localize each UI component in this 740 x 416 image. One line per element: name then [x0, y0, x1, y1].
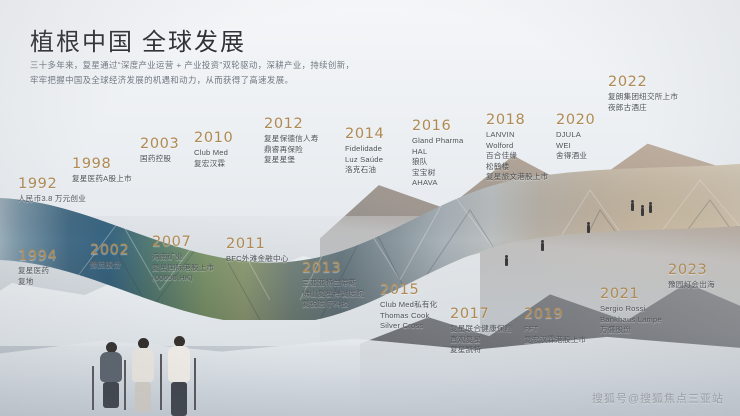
climber-figure [587, 225, 590, 233]
entry-item: 复星星堡 [264, 155, 319, 166]
timeline-entry-1994[interactable]: 1994 复星医药 复地 [18, 248, 57, 287]
timeline-entry-2012[interactable]: 2012 复星保德信人寿 鼎睿再保险 复星星堡 [264, 116, 319, 166]
ski-pole [124, 360, 126, 410]
timeline-entry-2018[interactable]: 2018 LANVIN Wolford 百合佳缘 松鹤楼 复星旅文港股上市 [486, 112, 548, 183]
climber-figure [631, 203, 634, 211]
entry-items: 豫园灯会出海 [668, 280, 715, 291]
skier-figure [168, 336, 190, 416]
year-label: 2019 [524, 306, 586, 322]
entry-item: (00656.HK) [152, 273, 214, 284]
ski-pole [160, 354, 162, 410]
timeline-entry-2015[interactable]: 2015 Club Med私有化 Thomas Cook Silver Cros… [380, 282, 437, 332]
entry-items: FFT 复宏汉霖港股上市 [524, 324, 586, 345]
entry-item: 人民币3.8 万元创业 [18, 194, 86, 205]
entry-item: Bankhaus Lampe [600, 315, 662, 326]
entry-item: 舍得酒业 [556, 151, 595, 162]
year-label: 1994 [18, 248, 57, 264]
entry-item: 国药控股 [140, 154, 179, 165]
entry-item: AHAVA [412, 178, 463, 189]
entry-items: Club Med私有化 Thomas Cook Silver Cross [380, 300, 437, 332]
year-label: 2011 [226, 236, 289, 252]
entry-items: BFC外滩金融中心 [226, 254, 289, 265]
year-label: 2010 [194, 130, 233, 146]
skier-figure [132, 338, 154, 412]
skier-figure [100, 342, 122, 408]
entry-item: 复星保德信人寿 [264, 134, 319, 145]
year-label: 2013 [302, 260, 364, 276]
year-label: 2023 [668, 262, 715, 278]
ski-pole [92, 366, 94, 410]
entry-items: LANVIN Wolford 百合佳缘 松鹤楼 复星旅文港股上市 [486, 130, 548, 183]
timeline-entry-2022[interactable]: 2022 复朗集团纽交所上市 夜郎古酒庄 [608, 74, 678, 113]
timeline-entry-2002[interactable]: 2002 豫园股份 [90, 242, 129, 271]
year-label: 2021 [600, 286, 662, 302]
entry-item: 三亚亚特兰蒂斯 [302, 278, 364, 289]
entry-item: Wolford [486, 141, 548, 152]
entry-items: 三亚亚特兰蒂斯 佛山复星禅诚医院 复锐医疗科技 [302, 278, 364, 310]
page-title: 植根中国 全球发展 [30, 22, 246, 57]
skier-group [80, 296, 260, 416]
entry-item: LANVIN [486, 130, 548, 141]
year-label: 2002 [90, 242, 129, 258]
climber-figure [641, 208, 644, 216]
entry-item: 豫园股份 [90, 260, 129, 271]
entry-item: HAL [412, 147, 463, 158]
entry-item: Fidelidade [345, 144, 384, 155]
timeline-entry-2021[interactable]: 2021 Sergio Rossi Bankhaus Lampe 万盛股份 [600, 286, 662, 336]
timeline-entry-2013[interactable]: 2013 三亚亚特兰蒂斯 佛山复星禅诚医院 复锐医疗科技 [302, 260, 364, 310]
subtitle-line-1: 三十多年来，复星通过“深度产业运营 + 产业投资”双轮驱动，深耕产业，持续创新， [30, 58, 490, 73]
ski-pole [194, 358, 196, 410]
entry-item: BFC外滩金融中心 [226, 254, 289, 265]
entry-items: 豫园股份 [90, 260, 129, 271]
entry-item: FFT [524, 324, 586, 335]
entry-items: 国药控股 [140, 154, 179, 165]
entry-item: 夜郎古酒庄 [608, 103, 678, 114]
entry-items: Fidelidade Luz Saúde 洛克石油 [345, 144, 384, 176]
entry-items: 复星联合健康保险 直观复星 复星凯特 [450, 324, 512, 356]
entry-item: 松鹤楼 [486, 162, 548, 173]
timeline-entry-2023[interactable]: 2023 豫园灯会出海 [668, 262, 715, 291]
entry-item: 鼎睿再保险 [264, 145, 319, 156]
entry-item: 复锐医疗科技 [302, 299, 364, 310]
entry-item: Club Med [194, 148, 233, 159]
climber-figure [541, 243, 544, 251]
entry-item: Club Med私有化 [380, 300, 437, 311]
entry-item: 百合佳缘 [486, 151, 548, 162]
year-label: 2007 [152, 234, 214, 250]
year-label: 2015 [380, 282, 437, 298]
year-label: 2003 [140, 136, 179, 152]
entry-item: Sergio Rossi [600, 304, 662, 315]
entry-items: 海南矿业 复星国际港股上市 (00656.HK) [152, 252, 214, 284]
entry-item: Thomas Cook [380, 311, 437, 322]
timeline-entry-2019[interactable]: 2019 FFT 复宏汉霖港股上市 [524, 306, 586, 345]
timeline-entry-2020[interactable]: 2020 DJULA WEI 舍得酒业 [556, 112, 595, 162]
entry-item: Silver Cross [380, 321, 437, 332]
entry-item: 洛克石油 [345, 165, 384, 176]
year-label: 2020 [556, 112, 595, 128]
watermark-label: 搜狐号@搜狐焦点三亚站 [592, 390, 724, 406]
infographic-canvas: 植根中国 全球发展 三十多年来，复星通过“深度产业运营 + 产业投资”双轮驱动，… [0, 0, 740, 416]
entry-items: 复星医药 复地 [18, 266, 57, 287]
entry-items: 复朗集团纽交所上市 夜郎古酒庄 [608, 92, 678, 113]
entry-items: 人民币3.8 万元创业 [18, 194, 86, 205]
entry-item: 宝宝树 [412, 168, 463, 179]
year-label: 1998 [72, 156, 132, 172]
entry-item: 豫园灯会出海 [668, 280, 715, 291]
entry-item: 海南矿业 [152, 252, 214, 263]
entry-item: WEI [556, 141, 595, 152]
year-label: 2014 [345, 126, 384, 142]
entry-item: Gland Pharma [412, 136, 463, 147]
entry-item: 复星凯特 [450, 345, 512, 356]
timeline-entry-1998[interactable]: 1998 复星医药A股上市 [72, 156, 132, 185]
entry-item: 复星国际港股上市 [152, 263, 214, 274]
entry-item: 直观复星 [450, 335, 512, 346]
entry-item: 复宏汉霖港股上市 [524, 335, 586, 346]
entry-item: 复宏汉霖 [194, 159, 233, 170]
page-subtitle: 三十多年来，复星通过“深度产业运营 + 产业投资”双轮驱动，深耕产业，持续创新，… [30, 58, 490, 88]
entry-item: 复地 [18, 277, 57, 288]
entry-item: 佛山复星禅诚医院 [302, 289, 364, 300]
entry-item: 复朗集团纽交所上市 [608, 92, 678, 103]
entry-item: Luz Saúde [345, 155, 384, 166]
entry-item: 复星旅文港股上市 [486, 172, 548, 183]
entry-items: Club Med 复宏汉霖 [194, 148, 233, 169]
entry-items: Sergio Rossi Bankhaus Lampe 万盛股份 [600, 304, 662, 336]
year-label: 2016 [412, 118, 463, 134]
timeline-entry-2014[interactable]: 2014 Fidelidade Luz Saúde 洛克石油 [345, 126, 384, 176]
entry-item: 复星医药A股上市 [72, 174, 132, 185]
climber-figure [649, 205, 652, 213]
year-label: 2018 [486, 112, 548, 128]
year-label: 2017 [450, 306, 512, 322]
entry-items: Gland Pharma HAL 狼队 宝宝树 AHAVA [412, 136, 463, 189]
entry-item: 万盛股份 [600, 325, 662, 336]
entry-item: 狼队 [412, 157, 463, 168]
entry-items: DJULA WEI 舍得酒业 [556, 130, 595, 162]
timeline-entry-2017[interactable]: 2017 复星联合健康保险 直观复星 复星凯特 [450, 306, 512, 356]
timeline-entry-2010[interactable]: 2010 Club Med 复宏汉霖 [194, 130, 233, 169]
year-label: 2022 [608, 74, 678, 90]
entry-item: DJULA [556, 130, 595, 141]
subtitle-line-2: 牢牢把握中国及全球经济发展的机遇和动力，从而获得了高速发展。 [30, 73, 490, 88]
year-label: 2012 [264, 116, 319, 132]
timeline-entry-2003[interactable]: 2003 国药控股 [140, 136, 179, 165]
entry-item: 复星联合健康保险 [450, 324, 512, 335]
timeline-entry-2016[interactable]: 2016 Gland Pharma HAL 狼队 宝宝树 AHAVA [412, 118, 463, 189]
entry-items: 复星保德信人寿 鼎睿再保险 复星星堡 [264, 134, 319, 166]
timeline-entry-2007[interactable]: 2007 海南矿业 复星国际港股上市 (00656.HK) [152, 234, 214, 284]
timeline-entry-2011[interactable]: 2011 BFC外滩金融中心 [226, 236, 289, 265]
entry-item: 复星医药 [18, 266, 57, 277]
climber-figure [505, 258, 508, 266]
entry-items: 复星医药A股上市 [72, 174, 132, 185]
